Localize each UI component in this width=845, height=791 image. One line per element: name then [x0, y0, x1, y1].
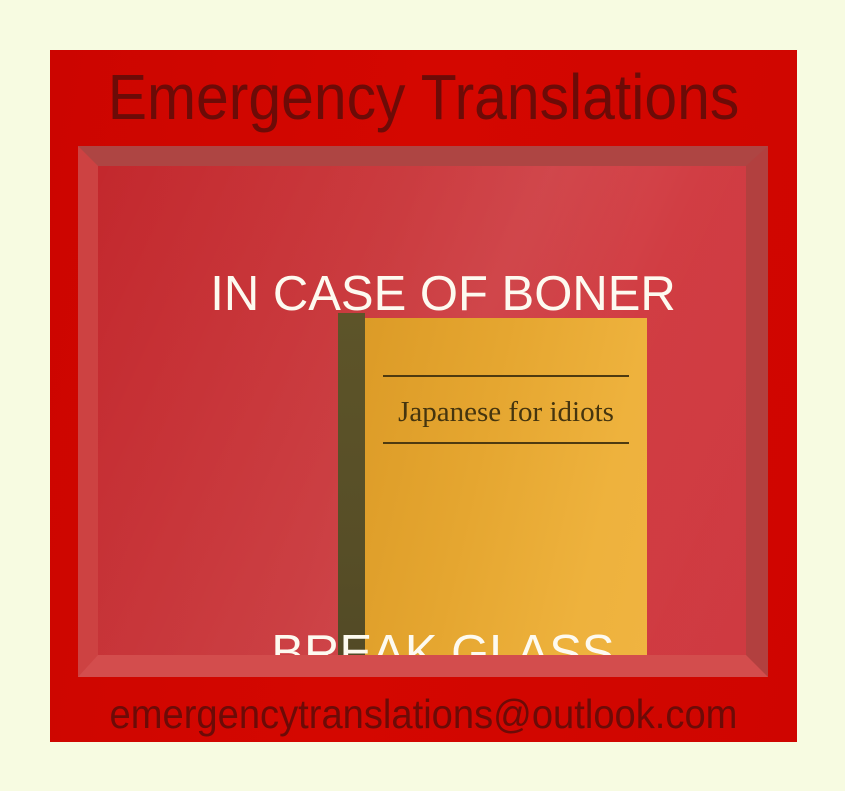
glass-case-frame: Japanese for idiots IN CASE OF BONER BRE… [78, 146, 768, 677]
emergency-translations-poster: Emergency Translations Japanese for idio… [50, 50, 797, 742]
book-title: Japanese for idiots [365, 388, 647, 436]
book-rule-top [383, 375, 629, 377]
book-cover: Japanese for idiots [365, 318, 647, 677]
book-rule-bottom [383, 442, 629, 444]
contact-email: emergencytranslations@outlook.com [76, 688, 771, 740]
book-illustration: Japanese for idiots [338, 313, 647, 677]
slogan-top: IN CASE OF BONER [98, 266, 768, 322]
slogan-bottom: BREAK GLASS [98, 625, 768, 677]
page-title: Emergency Translations [80, 58, 767, 136]
book-spine [338, 313, 365, 677]
